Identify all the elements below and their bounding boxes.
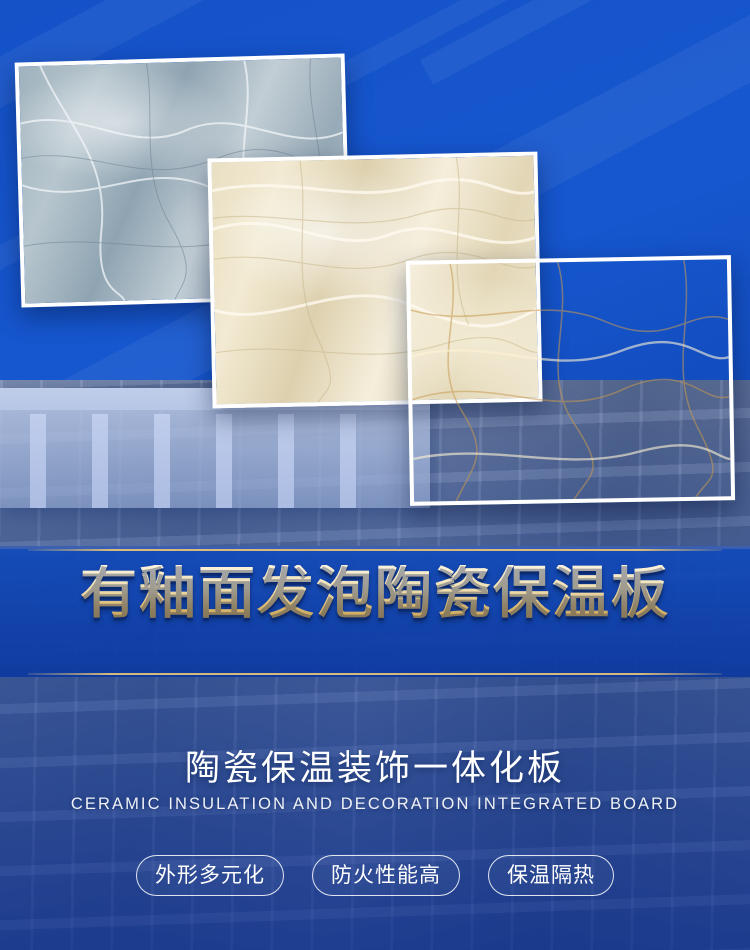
title-banner: 有釉面发泡陶瓷保温板 xyxy=(0,546,750,677)
feature-pill-list: 外形多元化 防火性能高 保温隔热 xyxy=(0,855,750,896)
feature-pill-2: 防火性能高 xyxy=(312,855,460,896)
product-poster: 有釉面发泡陶瓷保温板 陶瓷保温装饰一体化板 CERAMIC INSULATION… xyxy=(0,0,750,950)
subtitle-english: CERAMIC INSULATION AND DECORATION INTEGR… xyxy=(0,795,750,814)
golden-vein-pattern-icon xyxy=(410,259,731,503)
subtitle-chinese: 陶瓷保温装饰一体化板 xyxy=(0,740,750,791)
title-rule-bottom xyxy=(28,673,722,675)
title-rule-top xyxy=(28,549,722,551)
page-title: 有釉面发泡陶瓷保温板 xyxy=(0,565,750,622)
golden-marble-tile-sample xyxy=(406,255,735,506)
feature-pill-3: 保温隔热 xyxy=(488,855,614,896)
feature-pill-1: 外形多元化 xyxy=(136,855,284,896)
